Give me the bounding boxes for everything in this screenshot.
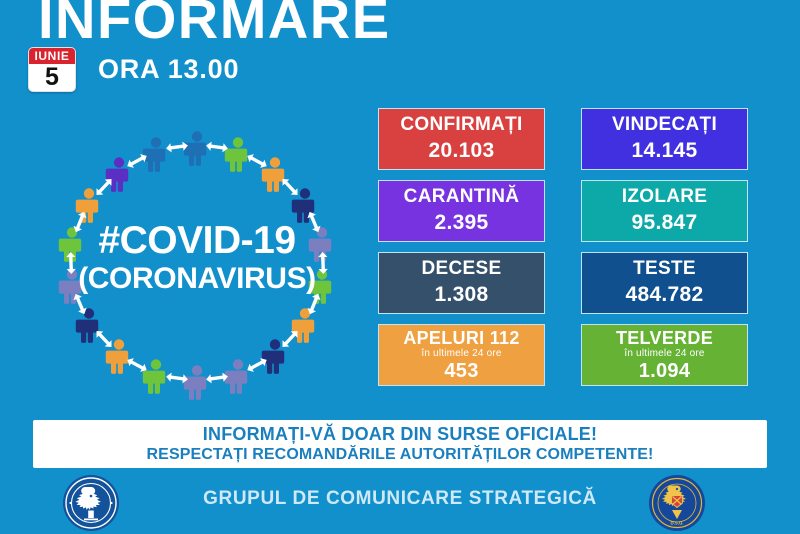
advisory-line-1: INFORMAȚI-VĂ DOAR DIN SURSE OFICIALE! <box>203 424 597 445</box>
footer: GRUPUL DE COMUNICARE STRATEGICĂ D.S.U. <box>0 472 800 534</box>
stat-confirmed-value: 20.103 <box>428 138 494 164</box>
advisory-banner: INFORMAȚI-VĂ DOAR DIN SURSE OFICIALE! RE… <box>33 420 767 468</box>
stat-deaths-value: 1.308 <box>434 282 488 308</box>
stat-telverde: TELVERDE în ultimele 24 ore 1.094 <box>581 324 748 386</box>
date-bar: IUNIE 5 ORA 13.00 <box>28 46 239 92</box>
calendar-day: 5 <box>29 64 75 91</box>
informare-poster: INFORMARE IUNIE 5 ORA 13.00 <box>0 0 800 534</box>
stat-calls-112-label: APELURI 112 <box>403 329 519 348</box>
stat-confirmed-label: CONFIRMAȚI <box>400 114 522 136</box>
stat-deaths-label: DECESE <box>422 258 502 280</box>
page-title: INFORMARE <box>38 0 391 50</box>
stat-isolation-value: 95.847 <box>631 210 697 236</box>
departamentul-situatii-urgenta-seal-icon: D.S.U. <box>648 474 706 532</box>
stat-quarantine-value: 2.395 <box>434 210 488 236</box>
stat-quarantine: CARANTINĂ 2.395 <box>378 180 545 242</box>
advisory-line-2: RESPECTAȚI RECOMANDĂRILE AUTORITĂȚILOR C… <box>147 445 654 464</box>
stat-deaths: DECESE 1.308 <box>378 252 545 314</box>
stat-telverde-value: 1.094 <box>639 360 691 382</box>
stat-telverde-sub: în ultimele 24 ore <box>624 348 704 360</box>
hour-label: ORA 13.00 <box>98 54 239 85</box>
svg-text:D.S.U.: D.S.U. <box>671 521 684 526</box>
stat-isolation-label: IZOLARE <box>622 186 708 208</box>
stat-tests-value: 484.782 <box>625 282 703 308</box>
calendar-month: IUNIE <box>29 48 75 64</box>
stat-tests: TESTE 484.782 <box>581 252 748 314</box>
stat-isolation: IZOLARE 95.847 <box>581 180 748 242</box>
stats-grid: CONFIRMAȚI 20.103 VINDECAȚI 14.145 CARAN… <box>378 108 748 386</box>
stat-telverde-label: TELVERDE <box>616 329 713 348</box>
stat-tests-label: TESTE <box>633 258 696 280</box>
stat-calls-112-value: 453 <box>444 360 478 382</box>
stat-confirmed: CONFIRMAȚI 20.103 <box>378 108 545 170</box>
stat-calls-112: APELURI 112 în ultimele 24 ore 453 <box>378 324 545 386</box>
stat-calls-112-sub: în ultimele 24 ore <box>421 348 501 360</box>
stat-recovered: VINDECAȚI 14.145 <box>581 108 748 170</box>
stat-quarantine-label: CARANTINĂ <box>404 186 520 208</box>
calendar-icon: IUNIE 5 <box>28 47 76 92</box>
stat-recovered-value: 14.145 <box>631 138 697 164</box>
stat-recovered-label: VINDECAȚI <box>612 114 717 136</box>
people-circle-icon: #COVID-19 (CORONAVIRUS) <box>22 112 372 412</box>
